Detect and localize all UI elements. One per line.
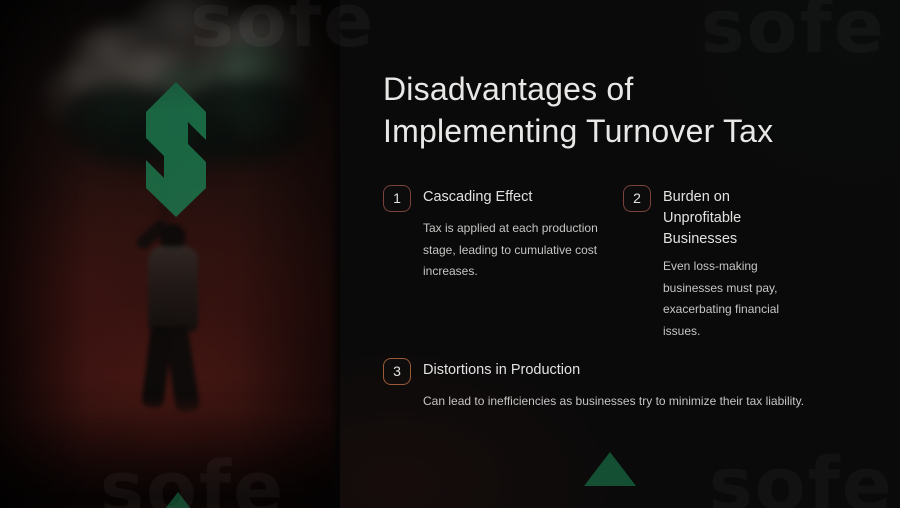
- item-heading: Distortions in Production: [423, 358, 580, 381]
- page-title-line-2: Implementing Turnover Tax: [383, 113, 773, 149]
- item-number-badge: 3: [383, 358, 411, 385]
- item-description: Can lead to inefficiencies as businesses…: [423, 391, 823, 413]
- watermark-diamond-icon: [152, 492, 204, 508]
- image-panel: [0, 0, 340, 508]
- list-item-header: 2 Burden on Unprofitable Businesses: [623, 185, 823, 250]
- watermark-bottom-right: sofe: [709, 442, 894, 508]
- watermark-diamond-icon: [584, 452, 636, 486]
- page-title-line-1: Disadvantages of: [383, 71, 633, 107]
- photo-vignette: [0, 0, 340, 508]
- item-heading: Cascading Effect: [423, 185, 532, 208]
- slide: sofe sofe Disadvantages of Implementing …: [0, 0, 900, 508]
- list-item: 3 Distortions in Production Can lead to …: [383, 358, 823, 413]
- item-heading: Burden on Unprofitable Businesses: [663, 185, 793, 250]
- item-description: Tax is applied at each production stage,…: [423, 218, 598, 283]
- watermark-top-right: sofe: [701, 0, 886, 70]
- panel-edge: [330, 0, 340, 508]
- watermark-top-left: sofe: [190, 0, 375, 64]
- item-number-badge: 2: [623, 185, 651, 212]
- list-item-header: 1 Cascading Effect: [383, 185, 598, 212]
- item-number-badge: 1: [383, 185, 411, 212]
- page-title: Disadvantages of Implementing Turnover T…: [383, 68, 883, 152]
- item-description: Even loss-making businesses must pay, ex…: [663, 256, 818, 342]
- list-item-header: 3 Distortions in Production: [383, 358, 823, 385]
- list-item: 2 Burden on Unprofitable Businesses Even…: [623, 185, 823, 342]
- content-panel: sofe sofe Disadvantages of Implementing …: [340, 0, 900, 508]
- list-item: 1 Cascading Effect Tax is applied at eac…: [383, 185, 598, 283]
